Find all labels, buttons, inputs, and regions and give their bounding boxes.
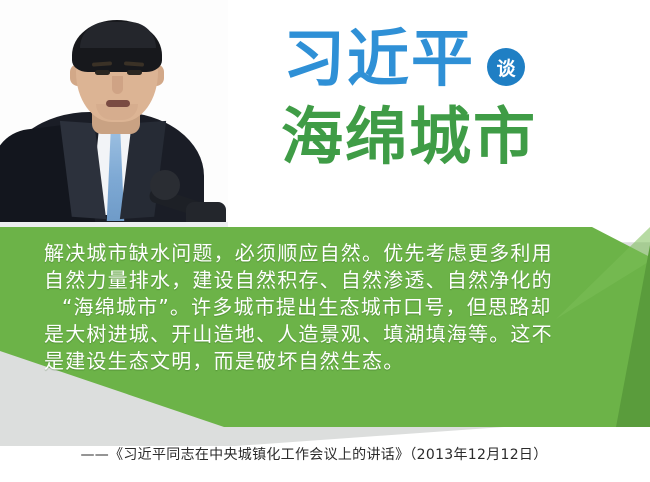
- citation-source: ——《习近平同志在中央城镇化工作会议上的讲话》（2013年12月12日）: [0, 444, 650, 464]
- quote-line: “海绵城市”。许多城市提出生态城市口号，但思路却: [44, 294, 604, 321]
- portrait-nose: [112, 76, 123, 94]
- portrait-photo: [0, 0, 228, 235]
- quote-line: 是建设生态文明，而是破坏自然生态。: [44, 348, 604, 375]
- microphone-head: [150, 170, 180, 200]
- page-title: 习近平: [283, 28, 475, 90]
- title-row-primary: 习近平 谈: [283, 28, 525, 90]
- quote-line: 是大树进城、开山造地、人造景观、填湖填海等。这不: [44, 321, 604, 348]
- quote-line: 自然力量排水，建设自然积存、自然渗透、自然净化的: [44, 267, 604, 294]
- portrait-eye-left: [95, 70, 110, 75]
- page-subtitle: 海绵城市: [281, 106, 537, 168]
- talk-badge-icon: 谈: [487, 48, 525, 86]
- portrait-mouth: [106, 100, 130, 107]
- poster-root: 习近平 谈 海绵城市 解决城市缺水问题，必须顺应自然。优先考虑更多利用 自然力量…: [0, 0, 650, 482]
- quote-line: 解决城市缺水问题，必须顺应自然。优先考虑更多利用: [44, 240, 604, 267]
- portrait-hair-highlight: [80, 22, 156, 48]
- portrait-eye-right: [127, 70, 142, 75]
- poster-title-area: 习近平 谈 海绵城市: [255, 14, 650, 204]
- quote-text-block: 解决城市缺水问题，必须顺应自然。优先考虑更多利用 自然力量排水，建设自然积存、自…: [44, 240, 604, 375]
